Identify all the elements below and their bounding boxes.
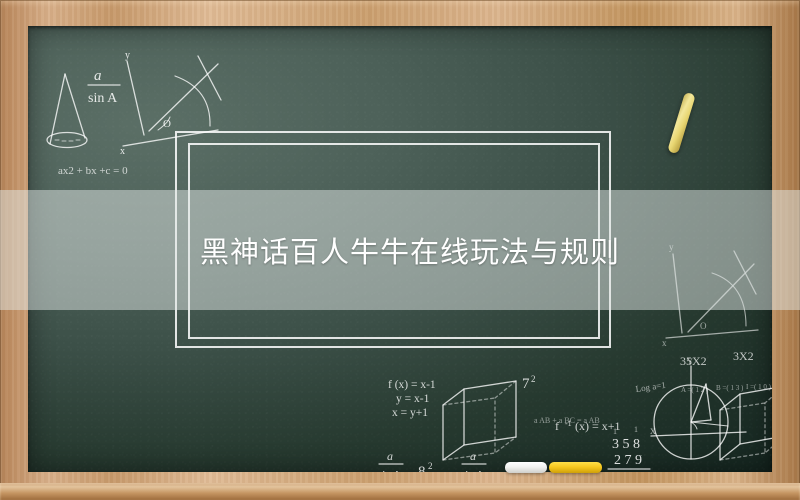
chalkboard-banner: a sin A y x O: [0, 0, 800, 500]
tray-white-chalk: [505, 462, 547, 473]
chalk-tray-lip: [0, 483, 800, 500]
page-title: 黑神话百人牛牛在线玩法与规则: [0, 190, 800, 310]
tray-yellow-chalk: [549, 462, 602, 473]
